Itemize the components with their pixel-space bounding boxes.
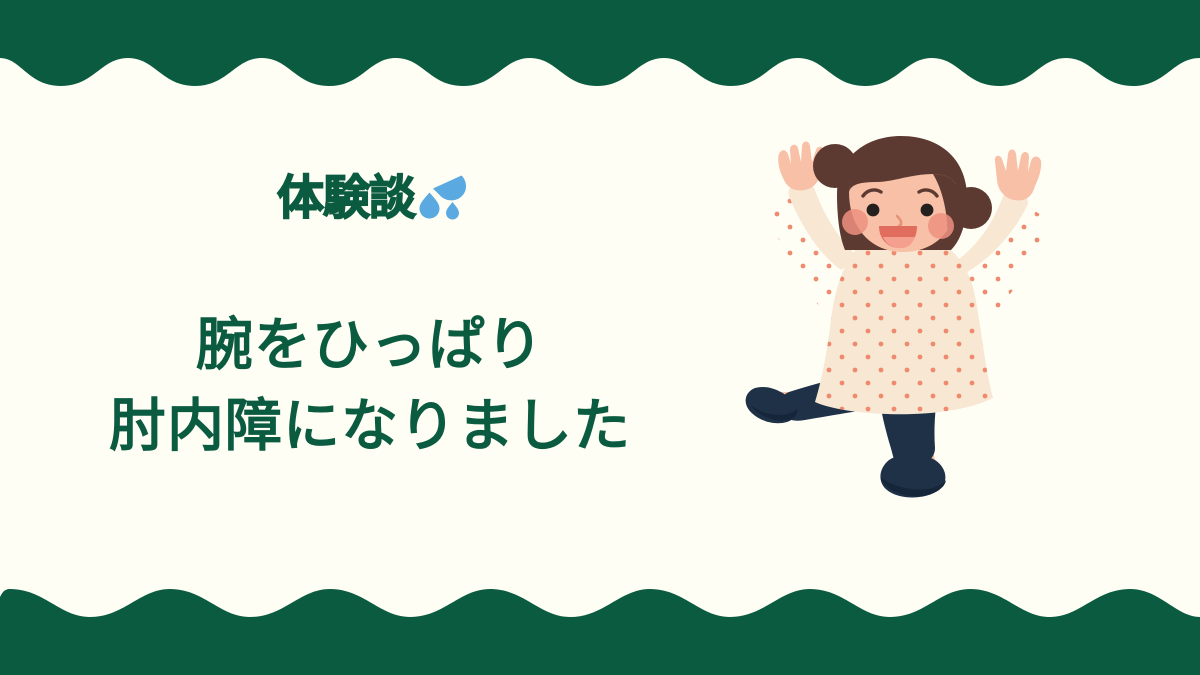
brand-logo: 体験談 (277, 169, 469, 222)
slide-canvas: 体験談 腕をひっぱり 肘内障になりました (0, 0, 1200, 675)
page-title-line-1: 腕をひっぱり (109, 306, 631, 387)
cheering-child-illustration (745, 130, 1085, 530)
brand-logo-text: 体験談 (277, 175, 415, 222)
page-title-line-2: 肘内障になりました (109, 387, 631, 468)
page-title: 腕をひっぱり 肘内障になりました (109, 306, 631, 468)
water-drops-icon (417, 169, 469, 221)
content-column: 体験談 腕をひっぱり 肘内障になりました (0, 0, 740, 675)
